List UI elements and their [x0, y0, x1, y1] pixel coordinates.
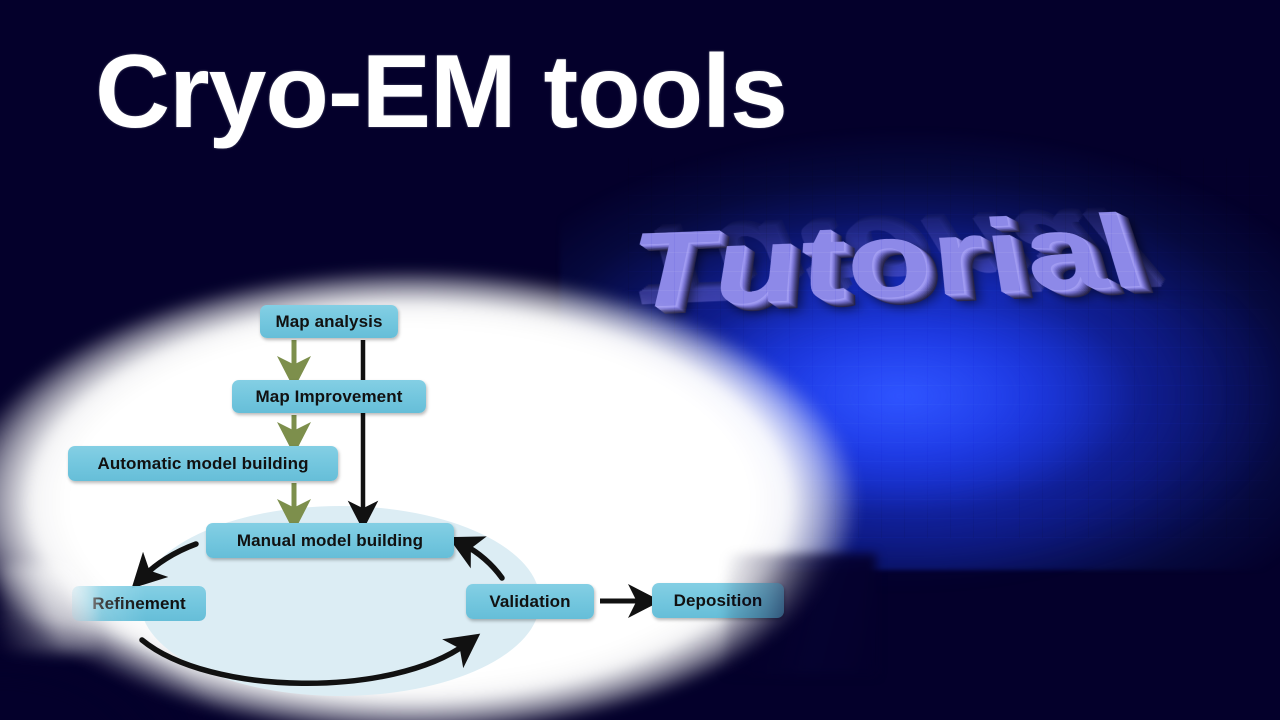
- arrow-manual-model-to-refinement: [144, 544, 196, 576]
- node-validation[interactable]: Validation: [466, 584, 594, 619]
- arrow-validation-to-manual-model: [464, 545, 502, 578]
- bottom-left-vignette: [0, 600, 270, 720]
- node-automatic-model-building[interactable]: Automatic model building: [68, 446, 338, 481]
- node-map-improvement[interactable]: Map Improvement: [232, 380, 426, 413]
- slide-title: Cryo-EM tools: [95, 34, 787, 150]
- slide-canvas: Tutorial Tutorial Cryo-EM tools: [0, 0, 1280, 720]
- deposition-edge-fade: [726, 554, 876, 674]
- node-manual-model-building[interactable]: Manual model building: [206, 523, 454, 558]
- node-map-analysis[interactable]: Map analysis: [260, 305, 398, 338]
